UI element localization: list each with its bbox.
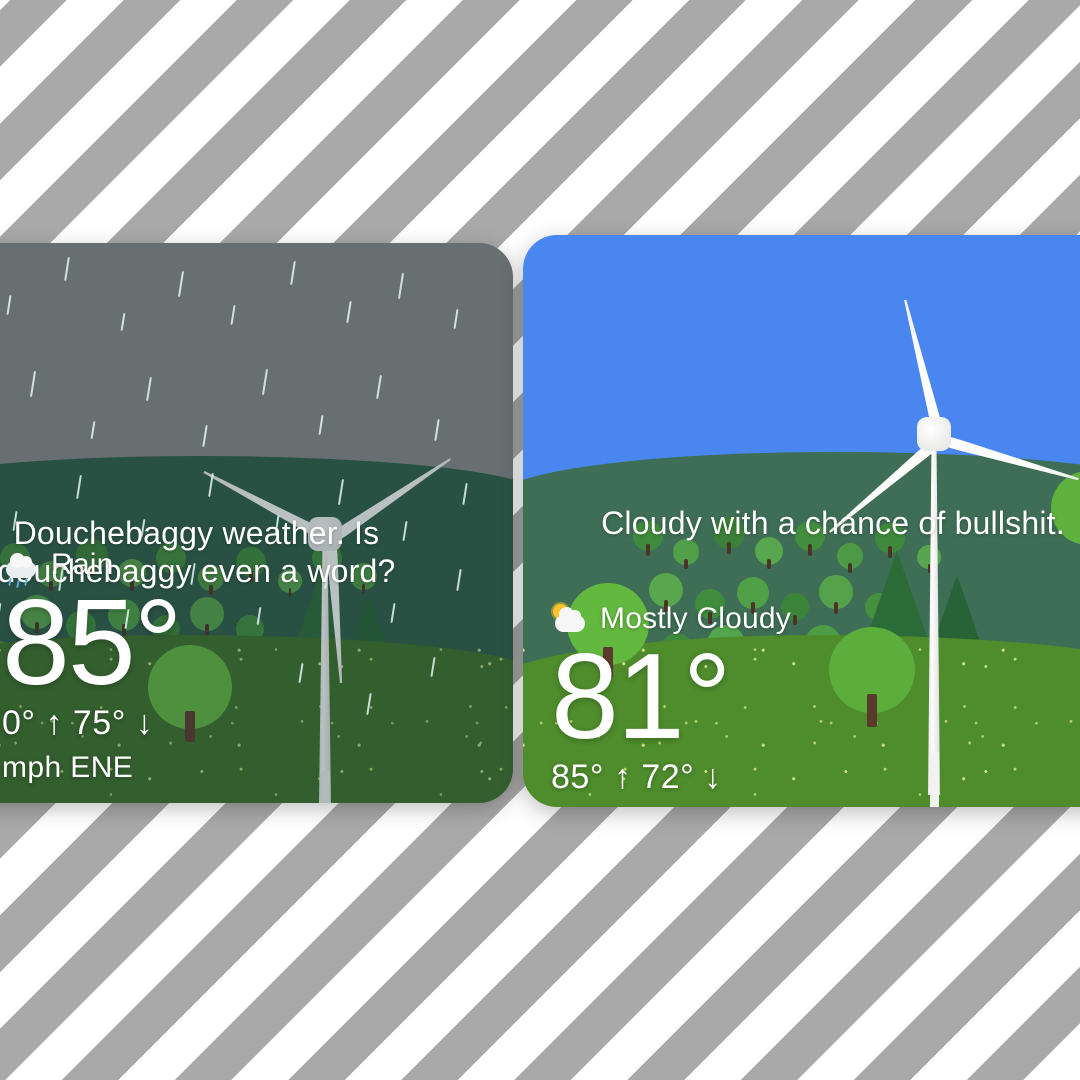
weather-readout-right: Mostly Cloudy 81° 85° ↑ 72° ↓ xyxy=(551,602,791,797)
weather-readout-left: Rain 85° 0° ↑ 75° ↓ mph ENE xyxy=(2,548,181,785)
rain-drops-icon xyxy=(9,578,33,587)
tree xyxy=(819,575,853,609)
wind-left: mph ENE xyxy=(2,751,181,785)
rain-cloud-icon xyxy=(2,548,42,582)
high-low-left: 0° ↑ 75° ↓ xyxy=(2,704,181,743)
temperature-right: 81° xyxy=(551,640,791,752)
turbine-mast xyxy=(928,434,940,795)
wind-turbine-right xyxy=(859,365,1009,795)
turbine-base xyxy=(930,752,939,807)
weather-card-left[interactable]: Douchebaggy weather. Is douchebaggy even… xyxy=(0,243,513,803)
high-low-right: 85° ↑ 72° ↓ xyxy=(551,758,791,797)
tree xyxy=(673,539,699,565)
sun-behind-cloud-icon xyxy=(551,602,591,636)
quote-text-right: Cloudy with a chance of bullshit. xyxy=(523,505,1080,543)
turbine-hub xyxy=(917,417,951,451)
temperature-left: 85° xyxy=(2,586,181,698)
weather-card-right[interactable]: Cloudy with a chance of bullshit. Mostly… xyxy=(523,235,1080,807)
